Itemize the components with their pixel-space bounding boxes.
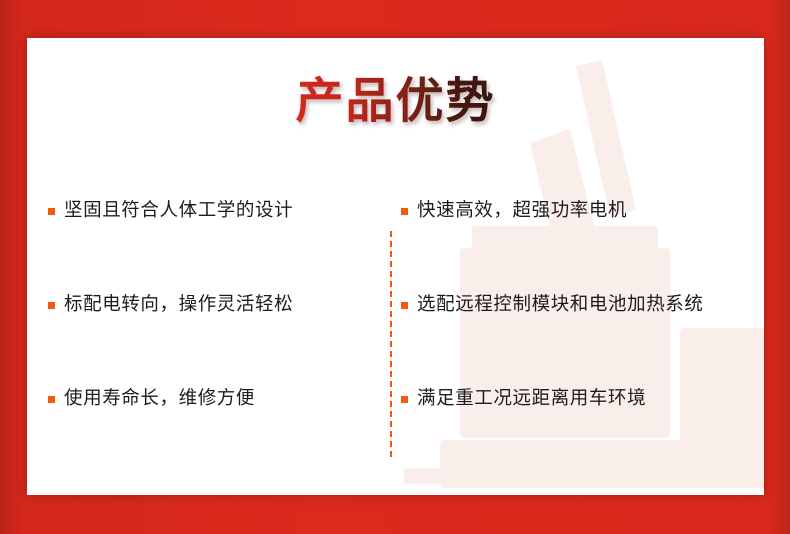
- square-bullet-icon: [401, 302, 408, 309]
- square-bullet-icon: [48, 208, 55, 215]
- page-title: 产品优势: [295, 74, 495, 129]
- square-bullet-icon: [48, 302, 55, 309]
- feature-text: 选配远程控制模块和电池加热系统: [417, 295, 704, 314]
- square-bullet-icon: [48, 396, 55, 403]
- slide-canvas: 产品优势 坚固且符合人体工学的设计 标配电转向，操作灵活轻松 使用寿命长，维修方…: [0, 0, 790, 534]
- square-bullet-icon: [401, 396, 408, 403]
- feature-column-right: 快速高效，超强功率电机 选配远程控制模块和电池加热系统 满足重工况远距离用车环境: [363, 163, 764, 445]
- feature-text: 满足重工况远距离用车环境: [417, 389, 646, 408]
- feature-item: 选配远程控制模块和电池加热系统: [401, 257, 764, 351]
- feature-item: 快速高效，超强功率电机: [401, 163, 764, 257]
- square-bullet-icon: [401, 208, 408, 215]
- feature-item: 使用寿命长，维修方便: [48, 351, 363, 445]
- feature-text: 标配电转向，操作灵活轻松: [64, 295, 293, 314]
- title-container: 产品优势: [27, 74, 764, 129]
- feature-columns: 坚固且符合人体工学的设计 标配电转向，操作灵活轻松 使用寿命长，维修方便 快速高…: [27, 163, 764, 445]
- content-panel: 产品优势 坚固且符合人体工学的设计 标配电转向，操作灵活轻松 使用寿命长，维修方…: [27, 38, 764, 495]
- feature-text: 使用寿命长，维修方便: [64, 389, 255, 408]
- feature-item: 满足重工况远距离用车环境: [401, 351, 764, 445]
- feature-item: 标配电转向，操作灵活轻松: [48, 257, 363, 351]
- feature-item: 坚固且符合人体工学的设计: [48, 163, 363, 257]
- feature-text: 坚固且符合人体工学的设计: [64, 201, 293, 220]
- feature-column-left: 坚固且符合人体工学的设计 标配电转向，操作灵活轻松 使用寿命长，维修方便: [27, 163, 363, 445]
- feature-text: 快速高效，超强功率电机: [417, 201, 627, 220]
